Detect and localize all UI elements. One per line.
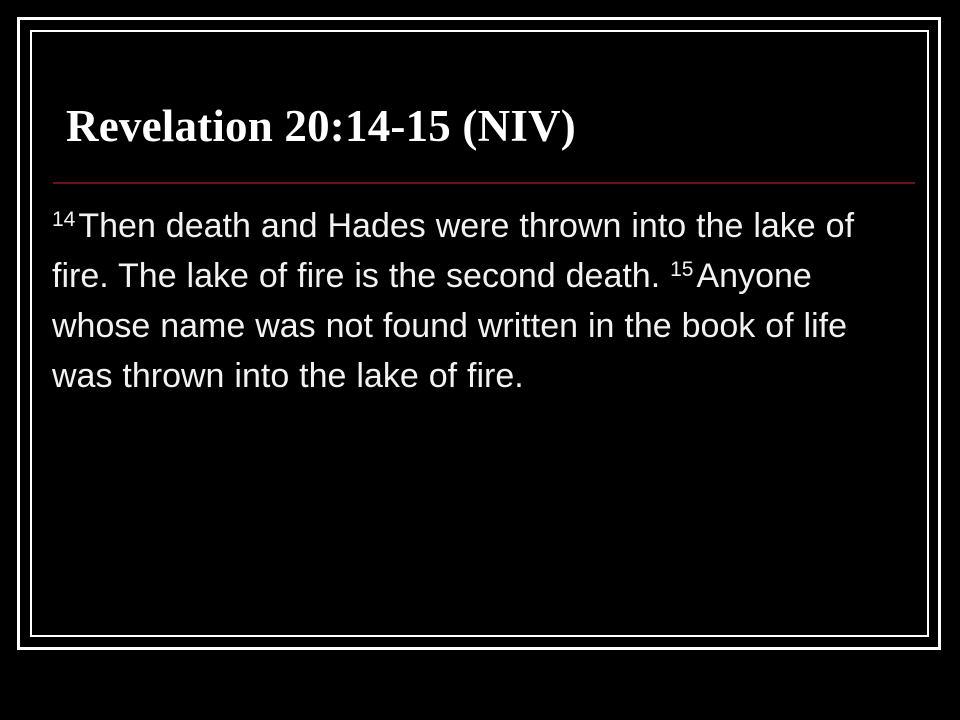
verse-number-15: 15 (670, 258, 696, 281)
scripture-body: 14Then death and Hades were thrown into … (52, 201, 914, 401)
slide-title: Revelation 20:14-15 (NIV) (66, 98, 916, 154)
verse-number-14: 14 (52, 208, 78, 231)
presentation-slide: Revelation 20:14-15 (NIV) 14Then death a… (0, 0, 960, 720)
title-divider-rule (53, 182, 915, 184)
